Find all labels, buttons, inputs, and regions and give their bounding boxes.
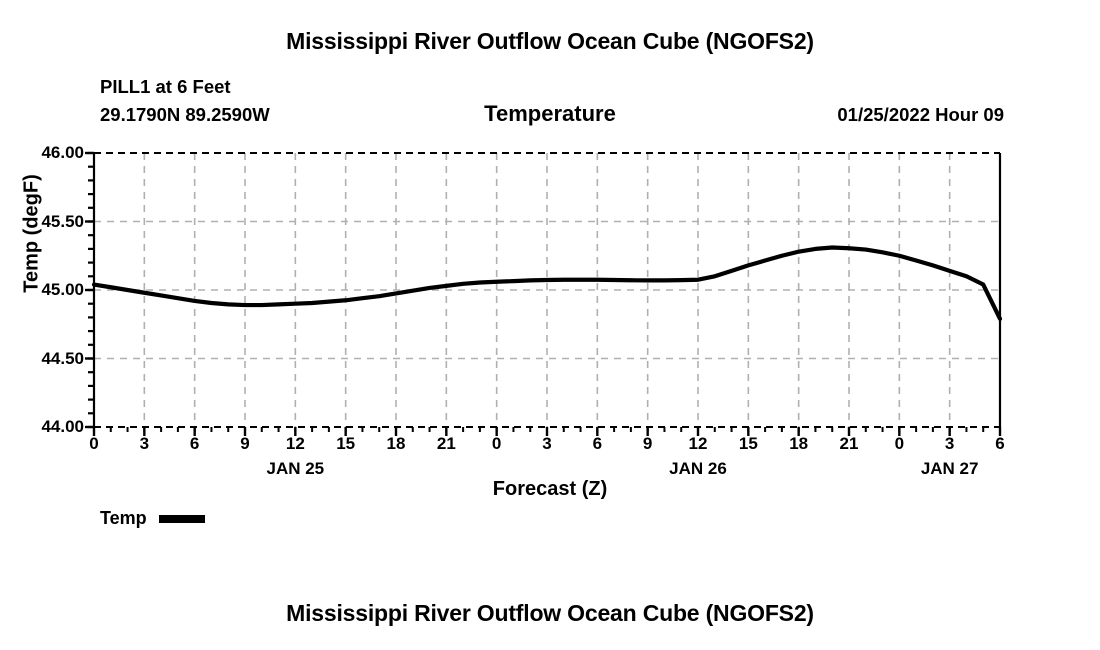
legend-label: Temp bbox=[100, 508, 147, 529]
x-tick-label: 0 bbox=[477, 434, 517, 454]
x-tick-label: 6 bbox=[577, 434, 617, 454]
y-tick-label: 46.00 bbox=[14, 143, 84, 163]
day-label: JAN 26 bbox=[638, 459, 758, 479]
x-tick-label: 3 bbox=[930, 434, 970, 454]
x-tick-label: 0 bbox=[74, 434, 114, 454]
grid-layer bbox=[94, 153, 1000, 427]
day-label: JAN 27 bbox=[890, 459, 1010, 479]
y-tick-label: 45.00 bbox=[14, 280, 84, 300]
x-tick-label: 0 bbox=[879, 434, 919, 454]
x-tick-label: 9 bbox=[628, 434, 668, 454]
legend-line-swatch bbox=[159, 515, 205, 523]
bottom-title: Mississippi River Outflow Ocean Cube (NG… bbox=[0, 600, 1100, 627]
x-tick-label: 18 bbox=[376, 434, 416, 454]
y-tick-label: 44.50 bbox=[14, 349, 84, 369]
x-tick-label: 3 bbox=[527, 434, 567, 454]
x-tick-label: 3 bbox=[124, 434, 164, 454]
day-label: JAN 25 bbox=[235, 459, 355, 479]
plot-canvas bbox=[0, 0, 1100, 650]
legend: Temp bbox=[100, 508, 205, 529]
x-tick-label: 15 bbox=[728, 434, 768, 454]
ticks-layer bbox=[85, 153, 1000, 436]
x-tick-label: 18 bbox=[779, 434, 819, 454]
y-tick-label: 45.50 bbox=[14, 212, 84, 232]
x-tick-label: 21 bbox=[829, 434, 869, 454]
x-tick-label: 15 bbox=[326, 434, 366, 454]
x-tick-label: 21 bbox=[426, 434, 466, 454]
x-tick-label: 12 bbox=[275, 434, 315, 454]
x-tick-label: 6 bbox=[175, 434, 215, 454]
x-tick-label: 9 bbox=[225, 434, 265, 454]
x-tick-label: 6 bbox=[980, 434, 1020, 454]
x-tick-label: 12 bbox=[678, 434, 718, 454]
chart-page: Mississippi River Outflow Ocean Cube (NG… bbox=[0, 0, 1100, 650]
